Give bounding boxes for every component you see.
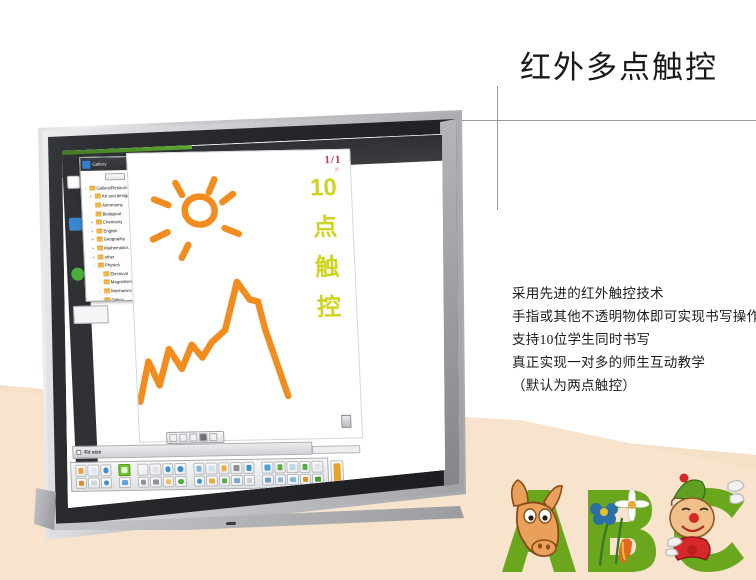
page-indicator-sub: 页 bbox=[335, 167, 339, 173]
image-icon[interactable] bbox=[205, 462, 217, 474]
align-center-icon[interactable] bbox=[189, 433, 197, 441]
redo-icon[interactable] bbox=[100, 477, 112, 489]
page-title: 红外多点触控 bbox=[520, 42, 718, 87]
file-group[interactable] bbox=[73, 464, 114, 489]
feature-line: （默认为两点触控） bbox=[512, 374, 756, 397]
divider-horizontal bbox=[440, 120, 756, 121]
ok-button[interactable] bbox=[105, 173, 125, 180]
toolbar-separator bbox=[326, 461, 327, 485]
tree-expander-icon[interactable]: - bbox=[92, 263, 96, 268]
tree-item-label: Astronomy bbox=[102, 202, 123, 207]
brush-icon[interactable] bbox=[287, 474, 299, 486]
fit-size-checkbox[interactable] bbox=[76, 450, 81, 455]
folder-icon bbox=[89, 185, 95, 190]
align-left-icon[interactable] bbox=[179, 434, 187, 442]
tree-expander-icon[interactable]: - bbox=[98, 288, 102, 293]
divider-vertical bbox=[497, 86, 498, 210]
folder-icon bbox=[95, 211, 101, 216]
handwriting-char: 10 bbox=[310, 176, 338, 200]
folder-icon bbox=[103, 280, 109, 285]
tree-expander-icon[interactable]: + bbox=[89, 194, 93, 199]
preview-panel bbox=[73, 305, 109, 324]
dialog-title: Gallery bbox=[92, 161, 106, 166]
pointer-icon[interactable] bbox=[118, 464, 130, 476]
abc-mascot-artwork bbox=[492, 468, 756, 580]
status-readout bbox=[312, 445, 360, 454]
tree-item-label: Geography bbox=[104, 236, 125, 241]
toolbar-separator bbox=[133, 464, 134, 488]
text-icon[interactable] bbox=[299, 473, 311, 485]
feature-line: 手指或其他不透明物体即可实现书写操作 bbox=[512, 305, 756, 328]
add-page-icon[interactable] bbox=[137, 464, 149, 476]
toolbar-separator bbox=[258, 462, 259, 486]
tree-item-label: Mathematics bbox=[104, 245, 129, 251]
zoom-out-icon[interactable] bbox=[174, 463, 186, 475]
feature-line: 真正实现一对多的师生互动教学 bbox=[512, 351, 756, 374]
shape-icon[interactable] bbox=[299, 461, 311, 473]
folder-icon bbox=[104, 297, 110, 302]
folder-icon bbox=[103, 271, 109, 276]
tree-expander-icon[interactable]: + bbox=[91, 246, 95, 251]
select-icon[interactable] bbox=[169, 434, 177, 442]
capture-icon[interactable] bbox=[218, 475, 230, 487]
tree-expander-icon[interactable]: - bbox=[83, 186, 87, 191]
globe-icon[interactable] bbox=[71, 268, 85, 281]
handwriting-char: 控 bbox=[316, 296, 341, 320]
save-icon[interactable] bbox=[75, 477, 87, 489]
fit-size-label: Fit size bbox=[84, 449, 101, 455]
cursor-group[interactable] bbox=[117, 464, 133, 488]
tree-expander-icon[interactable]: + bbox=[90, 228, 94, 233]
table-icon[interactable] bbox=[311, 461, 323, 473]
highlight-icon[interactable] bbox=[261, 461, 273, 473]
tree-item-label: Optics bbox=[111, 297, 123, 302]
pages-icon[interactable] bbox=[119, 476, 131, 488]
ir-sensor-icon bbox=[226, 522, 236, 525]
tree-item-label: Electrical bbox=[110, 271, 128, 276]
microphone-icon[interactable] bbox=[243, 462, 255, 474]
copy-icon[interactable] bbox=[88, 477, 100, 489]
folder-icon bbox=[96, 228, 102, 233]
sign-icon[interactable] bbox=[274, 461, 286, 473]
play-icon[interactable] bbox=[175, 475, 187, 487]
toolbar-separator bbox=[115, 464, 116, 488]
note-icon[interactable] bbox=[67, 176, 81, 189]
tree-expander-icon[interactable]: + bbox=[91, 237, 95, 242]
pencil-icon[interactable] bbox=[274, 474, 286, 486]
undo-icon[interactable] bbox=[100, 464, 112, 476]
page-indicator: 1/1 bbox=[324, 154, 342, 166]
folder-icon bbox=[95, 220, 101, 225]
toolbar-separator bbox=[189, 463, 190, 487]
page-root: 红外多点触控 采用先进的红外触控技术 手指或其他不透明物体即可实现书写操作 支持… bbox=[0, 0, 756, 580]
tree-item-label: Art and design bbox=[102, 193, 130, 199]
folder-icon bbox=[95, 203, 101, 208]
tree-item-label: Physics bbox=[105, 262, 120, 267]
folder-icon bbox=[97, 263, 103, 268]
tree-item-label: Magnetism bbox=[111, 279, 132, 284]
folder-icon bbox=[94, 194, 100, 199]
hand-pan-icon[interactable] bbox=[162, 476, 174, 488]
whiteboard-canvas[interactable]: 1/1 页 10 点 触 控 bbox=[126, 149, 363, 443]
feature-line: 采用先进的红外触控技术 bbox=[512, 282, 756, 305]
spotlight-icon[interactable] bbox=[231, 474, 243, 486]
handwriting-char: 触 bbox=[315, 256, 340, 280]
tree-expander-icon[interactable]: + bbox=[91, 254, 95, 259]
tree-item-label: other bbox=[104, 254, 114, 259]
list-icon[interactable] bbox=[209, 433, 217, 441]
tree-item-label: Chemistry bbox=[103, 219, 123, 224]
search-zoom-icon[interactable] bbox=[193, 475, 205, 487]
tree-item-label: English bbox=[103, 228, 117, 233]
zoom-in-icon[interactable] bbox=[162, 463, 174, 475]
feature-line: 支持10位学生同时书写 bbox=[512, 328, 756, 351]
media-group[interactable] bbox=[191, 462, 257, 487]
marker-icon[interactable] bbox=[286, 461, 298, 473]
picture-icon[interactable] bbox=[206, 475, 218, 487]
camera-icon[interactable] bbox=[230, 462, 242, 474]
gallery-icon bbox=[82, 160, 90, 168]
tree-item-label: Mechanics bbox=[111, 288, 132, 293]
folder-icon bbox=[96, 237, 102, 242]
feature-list: 采用先进的红外触控技术 手指或其他不透明物体即可实现书写操作 支持10位学生同时… bbox=[512, 282, 756, 397]
handwriting-char: 点 bbox=[313, 216, 338, 240]
new-page-icon[interactable] bbox=[87, 464, 99, 476]
tree-expander-icon[interactable]: + bbox=[90, 220, 94, 225]
folder-icon bbox=[97, 254, 103, 259]
line-icon[interactable] bbox=[262, 474, 274, 486]
back-arrow-icon[interactable] bbox=[137, 476, 149, 488]
open-file-icon[interactable] bbox=[75, 465, 87, 477]
screen-icon[interactable] bbox=[193, 463, 205, 475]
interactive-whiteboard-device: Gallery -Gallery\Resources\Software+Art … bbox=[16, 110, 466, 545]
floating-mini-toolbar[interactable] bbox=[166, 431, 225, 444]
eraser-icon[interactable] bbox=[341, 415, 352, 428]
folder-icon bbox=[97, 245, 103, 250]
tree-item-label: Biological bbox=[102, 211, 121, 216]
window-icon[interactable] bbox=[69, 218, 83, 231]
draw-group[interactable] bbox=[260, 461, 326, 486]
forward-arrow-icon[interactable] bbox=[150, 476, 162, 488]
delete-page-icon[interactable] bbox=[149, 463, 161, 475]
folder-icon bbox=[103, 288, 109, 293]
object-icon[interactable] bbox=[199, 433, 207, 441]
pen-icon[interactable] bbox=[218, 462, 230, 474]
curtain-icon[interactable] bbox=[243, 474, 255, 486]
edit-group[interactable] bbox=[135, 463, 188, 488]
